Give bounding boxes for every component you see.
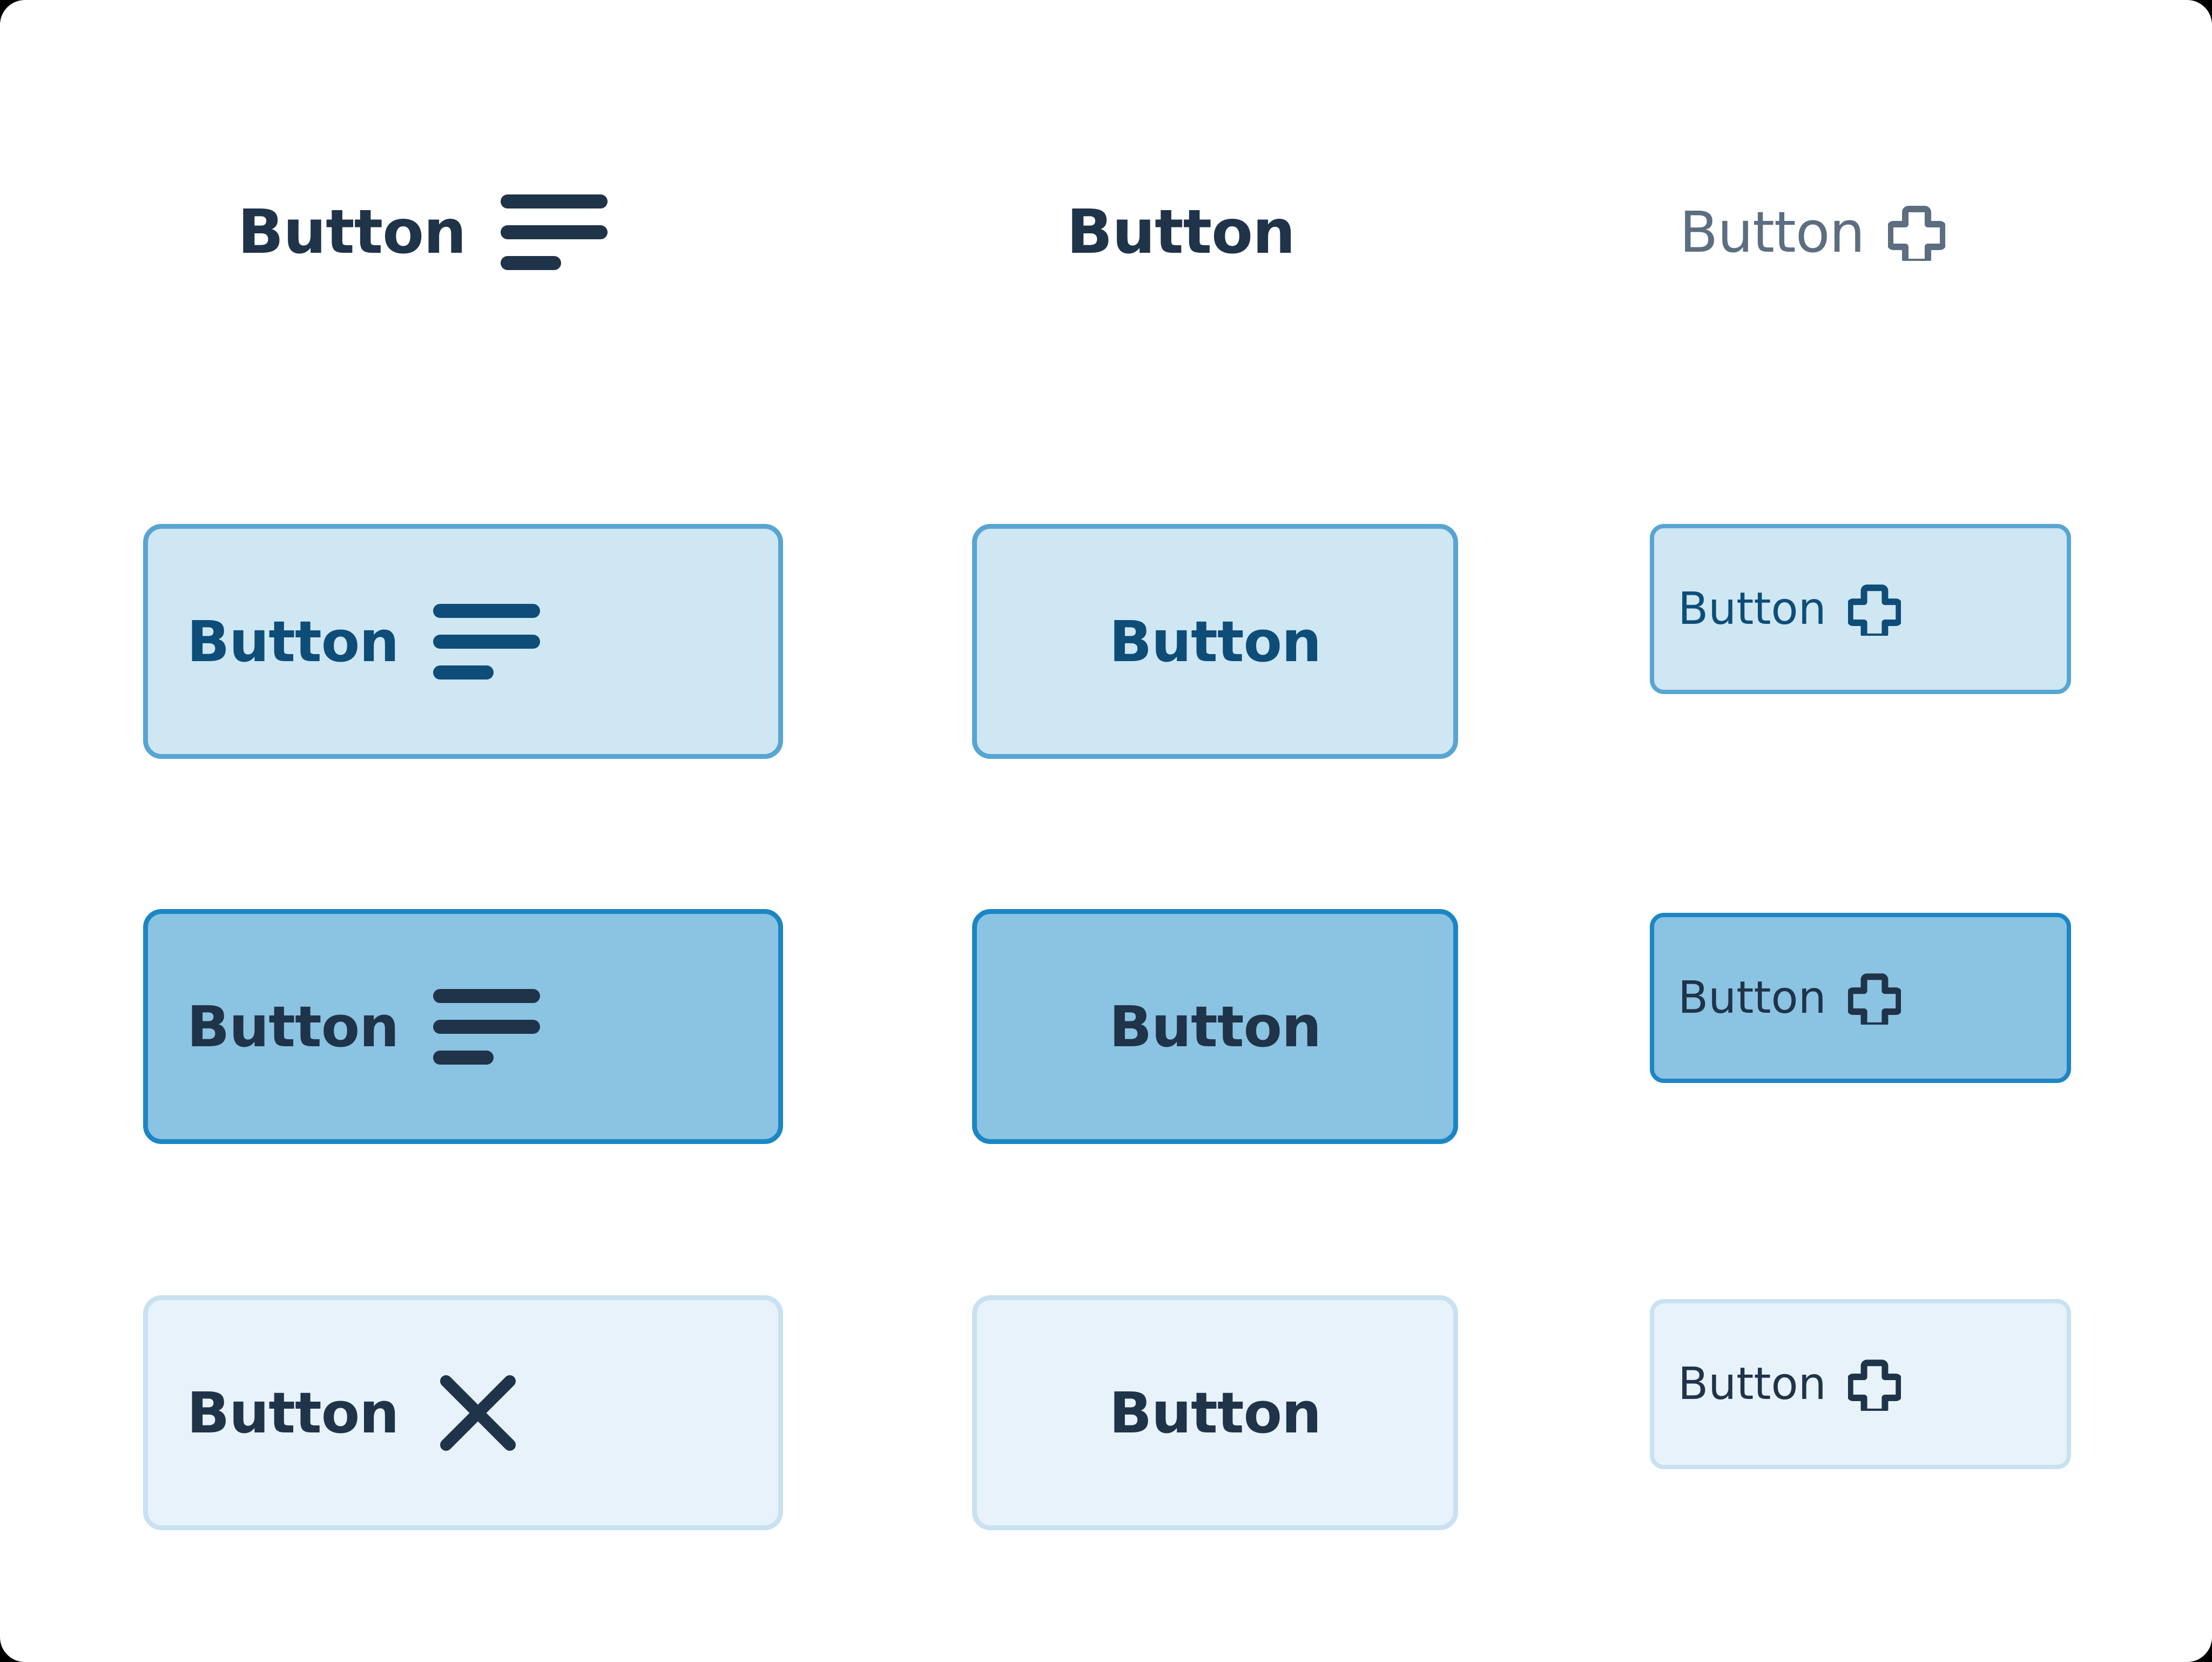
ghost-button-plus[interactable]: Button [1680,178,2166,286]
ghost-button-hamburger[interactable]: Button [238,178,832,286]
button-label: Button [1680,204,1864,260]
button-label: Button [1678,976,1826,1020]
plus-icon [1848,583,1901,636]
button-label: Button [1067,202,1295,263]
button-label: Button [1678,587,1826,631]
hamburger-icon [430,984,543,1070]
button-label: Button [187,614,399,670]
button-label: Button [1678,1362,1826,1407]
medium-button-hamburger[interactable]: Button [143,909,783,1144]
button-label: Button [1109,999,1321,1055]
medium-button-plus[interactable]: Button [1650,913,2071,1083]
pale-button-plain[interactable]: Button [972,1295,1458,1530]
medium-button-plain[interactable]: Button [972,909,1458,1144]
button-showcase-canvas: Button Button Button [0,0,2212,1662]
ghost-button-plain[interactable]: Button [1067,178,1553,286]
light-button-plus[interactable]: Button [1650,524,2071,694]
button-grid: Button Button Button [0,0,2212,1662]
pale-button-close[interactable]: Button [143,1295,783,1530]
button-label: Button [187,1385,399,1441]
button-label: Button [1109,1385,1321,1441]
hamburger-icon [497,189,611,275]
light-button-hamburger[interactable]: Button [143,524,783,759]
button-label: Button [187,999,399,1055]
button-label: Button [238,202,466,263]
light-button-plain[interactable]: Button [972,524,1458,759]
close-icon [437,1372,518,1454]
plus-icon [1848,972,1901,1025]
button-label: Button [1109,614,1321,670]
pale-button-plus[interactable]: Button [1650,1299,2071,1469]
plus-icon [1888,204,1945,261]
plus-icon [1848,1358,1901,1411]
hamburger-icon [430,598,543,685]
